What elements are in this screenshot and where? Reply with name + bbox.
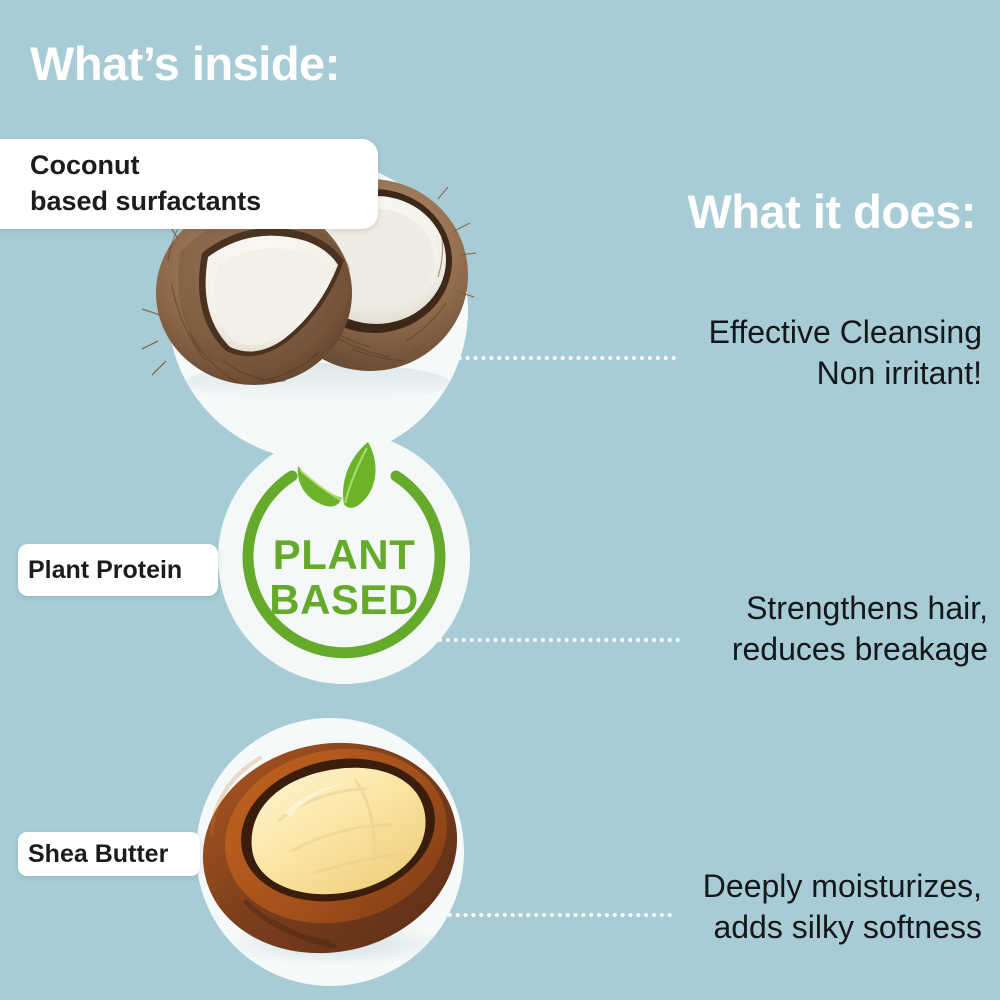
two-leaves-icon [298, 442, 376, 508]
ingredient-label-coconut-line2: based surfactants [30, 184, 378, 220]
ingredient-label-coconut: Coconut based surfactants [0, 139, 378, 229]
leader-line-row2 [430, 638, 680, 646]
ingredient-label-plant-protein: Plant Protein [18, 544, 218, 596]
ingredient-label-shea-butter-text: Shea Butter [28, 840, 200, 869]
ingredient-label-shea-butter: Shea Butter [18, 832, 200, 876]
ingredient-label-coconut-line1: Coconut [30, 148, 378, 184]
benefit-text-row2: Strengthens hair, reduces breakage [732, 588, 988, 670]
ingredient-label-plant-protein-text: Plant Protein [28, 556, 218, 585]
plant-based-badge-icon [226, 440, 462, 676]
page-title-what-it-does: What it does: [687, 188, 976, 235]
benefit-text-row1: Effective Cleansing Non irritant! [709, 312, 982, 394]
shea-nut-image [186, 726, 476, 978]
infographic-canvas: What’s inside: What it does: [0, 0, 1000, 1000]
page-title-whats-inside: What’s inside: [30, 40, 340, 87]
benefit-text-row3: Deeply moisturizes, adds silky softness [703, 866, 982, 948]
